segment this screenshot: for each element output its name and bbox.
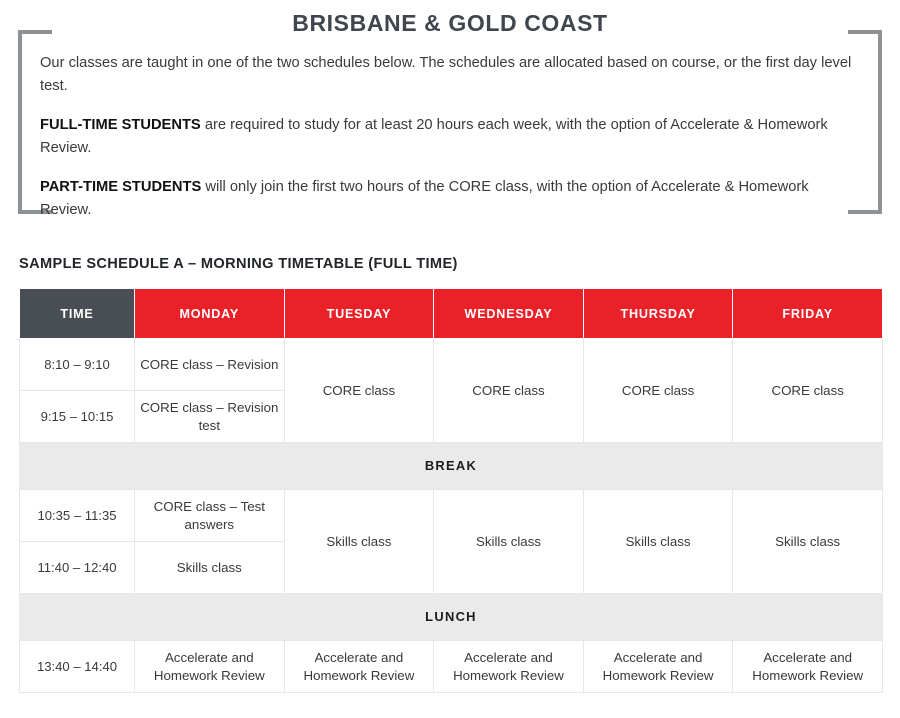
intro-paragraph-1: Our classes are taught in one of the two…	[40, 52, 856, 98]
timetable: TIME MONDAY TUESDAY WEDNESDAY THURSDAY F…	[19, 288, 883, 693]
time-slot-5: 13:40 – 14:40	[20, 641, 135, 693]
column-header-tuesday: TUESDAY	[284, 289, 434, 339]
cell-monday-slot-2: CORE class – Revision test	[135, 391, 285, 443]
cell-thursday-accelerate: Accelerate and Homework Review	[583, 641, 733, 693]
cell-thursday-core: CORE class	[583, 339, 733, 443]
cell-monday-slot-4: Skills class	[135, 542, 285, 594]
cell-monday-slot-1: CORE class – Revision	[135, 339, 285, 391]
section-subtitle: SAMPLE SCHEDULE A – MORNING TIMETABLE (F…	[19, 256, 458, 272]
cell-wednesday-accelerate: Accelerate and Homework Review	[434, 641, 584, 693]
lunch-row: LUNCH	[20, 594, 883, 641]
timetable-body: 8:10 – 9:10 CORE class – Revision CORE c…	[20, 339, 883, 693]
cell-wednesday-skills: Skills class	[434, 490, 584, 594]
lunch-label: LUNCH	[20, 594, 883, 641]
full-time-students-label: FULL-TIME STUDENTS	[40, 117, 201, 133]
column-header-time: TIME	[20, 289, 135, 339]
cell-friday-skills: Skills class	[733, 490, 883, 594]
cell-friday-core: CORE class	[733, 339, 883, 443]
intro-paragraph-2: FULL-TIME STUDENTS are required to study…	[40, 114, 856, 160]
intro-frame: Our classes are taught in one of the two…	[18, 30, 882, 214]
cell-friday-accelerate: Accelerate and Homework Review	[733, 641, 883, 693]
timetable-header: TIME MONDAY TUESDAY WEDNESDAY THURSDAY F…	[20, 289, 883, 339]
column-header-monday: MONDAY	[135, 289, 285, 339]
column-header-thursday: THURSDAY	[583, 289, 733, 339]
break-row: BREAK	[20, 443, 883, 490]
schedule-page: BRISBANE & GOLD COAST Our classes are ta…	[0, 0, 900, 718]
column-header-wednesday: WEDNESDAY	[434, 289, 584, 339]
cell-monday-slot-3: CORE class – Test answers	[135, 490, 285, 542]
cell-tuesday-accelerate: Accelerate and Homework Review	[284, 641, 434, 693]
table-header-row: TIME MONDAY TUESDAY WEDNESDAY THURSDAY F…	[20, 289, 883, 339]
table-row: 13:40 – 14:40 Accelerate and Homework Re…	[20, 641, 883, 693]
break-label: BREAK	[20, 443, 883, 490]
time-slot-3: 10:35 – 11:35	[20, 490, 135, 542]
cell-wednesday-core: CORE class	[434, 339, 584, 443]
time-slot-1: 8:10 – 9:10	[20, 339, 135, 391]
table-row: 8:10 – 9:10 CORE class – Revision CORE c…	[20, 339, 883, 391]
column-header-friday: FRIDAY	[733, 289, 883, 339]
cell-thursday-skills: Skills class	[583, 490, 733, 594]
cell-tuesday-skills: Skills class	[284, 490, 434, 594]
intro-paragraph-3: PART-TIME STUDENTS will only join the fi…	[40, 176, 856, 222]
time-slot-4: 11:40 – 12:40	[20, 542, 135, 594]
intro-text-block: Our classes are taught in one of the two…	[40, 52, 856, 222]
table-row: 10:35 – 11:35 CORE class – Test answers …	[20, 490, 883, 542]
time-slot-2: 9:15 – 10:15	[20, 391, 135, 443]
part-time-students-label: PART-TIME STUDENTS	[40, 179, 201, 195]
cell-tuesday-core: CORE class	[284, 339, 434, 443]
intro-paragraph-1-text: Our classes are taught in one of the two…	[40, 55, 851, 94]
cell-monday-accelerate: Accelerate and Homework Review	[135, 641, 285, 693]
